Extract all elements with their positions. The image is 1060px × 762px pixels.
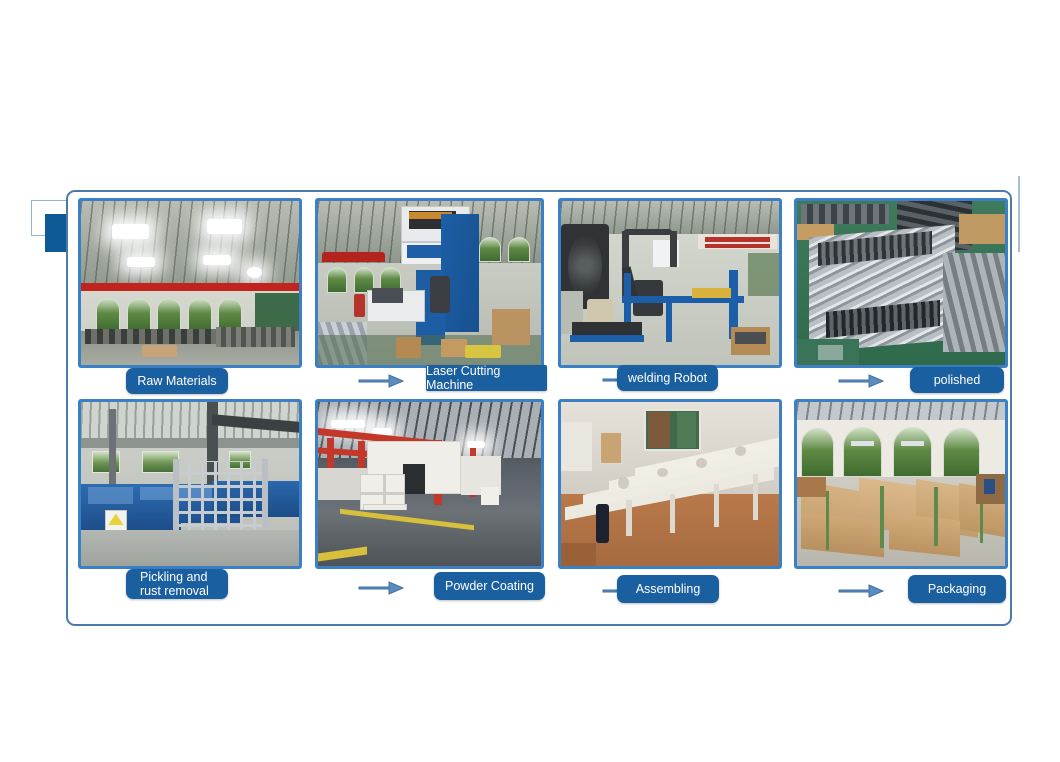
step-label-powder-coating[interactable]: Powder Coating <box>434 572 545 600</box>
step-label-laser-cutting-machine[interactable]: Laser Cutting Machine <box>426 365 547 391</box>
step-label-assembling[interactable]: Assembling <box>617 575 719 603</box>
slide-canvas: Production Workflow Chart <box>0 0 1060 762</box>
step-label-packaging[interactable]: Packaging <box>908 575 1006 603</box>
arrow-right-icon-1 <box>358 372 404 390</box>
step-label-welding-robot[interactable]: welding Robot <box>617 365 718 391</box>
workflow-step-assembling[interactable]: Assembling <box>558 399 782 569</box>
workflow-step-raw-materials[interactable]: Raw Materials <box>78 198 302 368</box>
workflow-step-polished[interactable]: polished <box>794 198 1008 368</box>
workflow-row-2: Pickling and rust removal <box>68 399 1014 595</box>
page-header: Production Workflow Chart <box>0 88 1060 168</box>
photo-packaging <box>794 399 1008 569</box>
workflow-step-laser-cutting[interactable]: Laser Cutting Machine <box>315 198 544 368</box>
step-label-pickling-and-rust-removal[interactable]: Pickling and rust removal <box>126 569 228 599</box>
workflow-step-packaging[interactable]: Packaging <box>794 399 1008 569</box>
arrow-right-icon-4 <box>358 579 404 597</box>
workflow-row-1: Raw Materials <box>68 198 1014 394</box>
step-label-polished[interactable]: polished <box>910 367 1004 393</box>
header-divider <box>1018 176 1020 252</box>
step-label-raw-materials[interactable]: Raw Materials <box>126 368 228 394</box>
photo-polished <box>794 198 1008 368</box>
workflow-step-welding-robot[interactable]: welding Robot <box>558 198 782 368</box>
arrow-right-icon-6 <box>838 582 884 600</box>
workflow-step-powder-coating[interactable]: Powder Coating <box>315 399 544 569</box>
arrow-right-icon-3 <box>838 372 884 390</box>
photo-raw-materials <box>78 198 302 368</box>
photo-assembling <box>558 399 782 569</box>
workflow-step-pickling[interactable]: Pickling and rust removal <box>78 399 302 569</box>
workflow-container: Raw Materials <box>66 190 1012 626</box>
photo-laser-cutting-machine <box>315 198 544 368</box>
photo-powder-coating <box>315 399 544 569</box>
photo-welding-robot <box>558 198 782 368</box>
photo-pickling-and-rust-removal <box>78 399 302 569</box>
